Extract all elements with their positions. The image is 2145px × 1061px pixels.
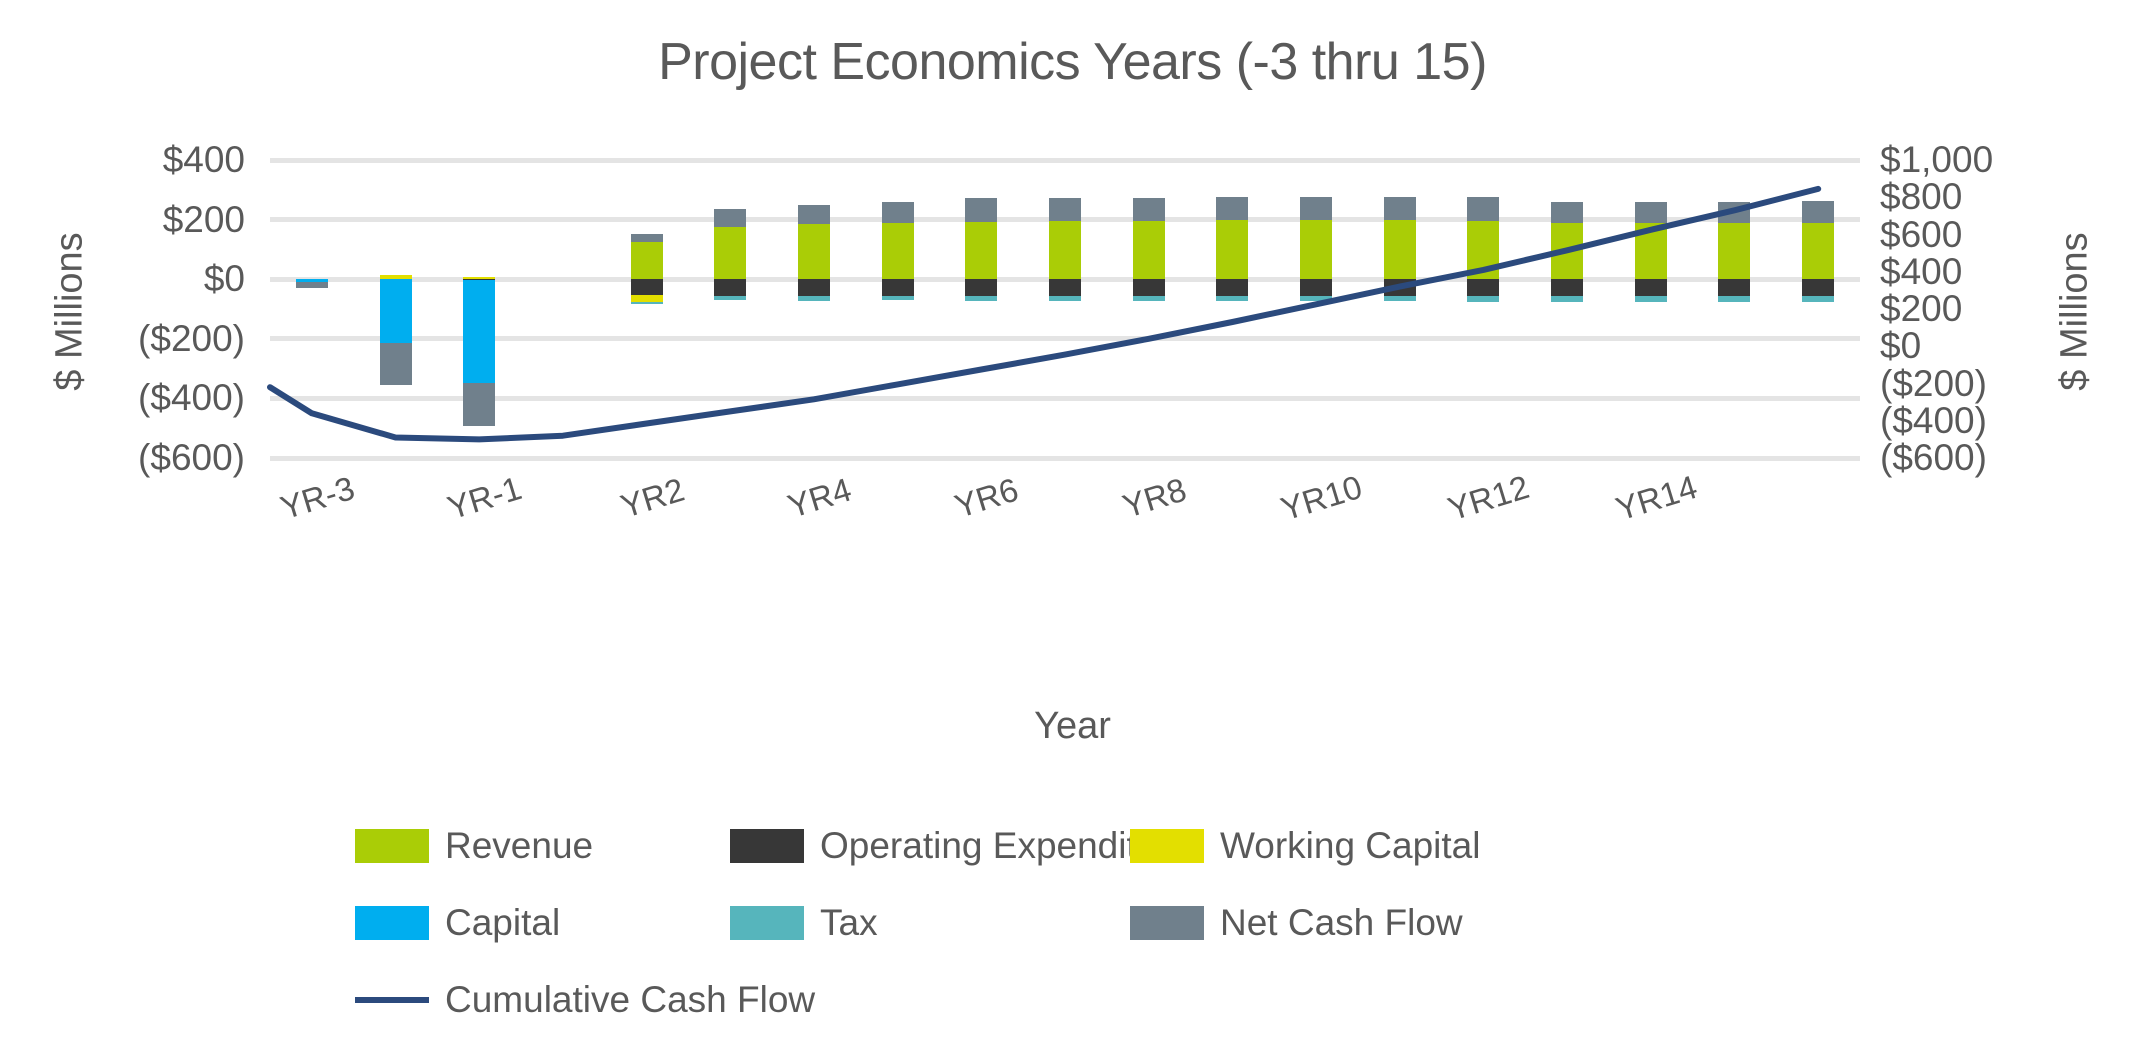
x-axis-tick-label: YR-1 (412, 460, 557, 537)
cumulative-cash-flow-line (270, 160, 1860, 458)
legend-row: CapitalTaxNet Cash Flow (355, 895, 1705, 972)
x-axis-tick-label: YR10 (1249, 460, 1394, 537)
cumulative-cash-flow-polyline (270, 189, 1818, 440)
legend-label: Capital (445, 902, 560, 944)
legend-item[interactable]: Revenue (355, 818, 593, 874)
legend-label: Cumulative Cash Flow (445, 979, 815, 1021)
chart-container: Project Economics Years (-3 thru 15) $ M… (0, 0, 2145, 1061)
y-axis-tick-label-right: $400 (1880, 251, 2140, 293)
y-axis-tick-label-right: $800 (1880, 176, 2140, 218)
y-axis-tick-label-right: $200 (1880, 288, 2140, 330)
y-axis-tick-label-left: ($600) (0, 437, 245, 479)
legend-swatch-icon (355, 829, 429, 863)
legend-label: Tax (820, 902, 878, 944)
x-axis-title: Year (0, 705, 2145, 748)
legend-item[interactable]: Net Cash Flow (1130, 895, 1463, 951)
legend-swatch-icon (355, 906, 429, 940)
legend-row: Cumulative Cash Flow (355, 972, 1705, 1049)
legend-row: RevenueOperating ExpenditureWorking Capi… (355, 818, 1705, 895)
legend-line-marker-icon (355, 997, 429, 1003)
legend-item[interactable]: Working Capital (1130, 818, 1480, 874)
legend-item[interactable]: Tax (730, 895, 878, 951)
y-axis-tick-label-right: ($200) (1880, 363, 2140, 405)
y-axis-tick-label-right: $1,000 (1880, 139, 2140, 181)
legend-label: Revenue (445, 825, 593, 867)
y-axis-tick-label-right: ($600) (1880, 437, 2140, 479)
y-axis-tick-label-right: ($400) (1880, 400, 2140, 442)
y-axis-tick-label-left: $200 (0, 199, 245, 241)
x-axis-tick-label: YR8 (1082, 460, 1227, 537)
x-axis-tick-label: YR-3 (245, 460, 390, 537)
y-axis-tick-label-left: ($400) (0, 377, 245, 419)
legend-label: Working Capital (1220, 825, 1480, 867)
y-axis-tick-label-right: $600 (1880, 214, 2140, 256)
legend-label: Net Cash Flow (1220, 902, 1463, 944)
legend-item[interactable]: Capital (355, 895, 560, 951)
chart-title: Project Economics Years (-3 thru 15) (0, 32, 2145, 92)
x-axis-tick-label: YR4 (747, 460, 892, 537)
x-axis-tick-label: YR6 (914, 460, 1059, 537)
legend-swatch-icon (1130, 829, 1204, 863)
plot-area (270, 160, 1860, 458)
chart-legend: RevenueOperating ExpenditureWorking Capi… (355, 818, 1705, 1049)
x-axis-tick-label: YR14 (1584, 460, 1729, 537)
y-axis-tick-label-left: $0 (0, 258, 245, 300)
legend-item[interactable]: Cumulative Cash Flow (355, 972, 815, 1028)
legend-swatch-icon (730, 906, 804, 940)
y-axis-tick-label-right: $0 (1880, 325, 2140, 367)
x-axis-tick-label: YR2 (580, 460, 725, 537)
legend-item[interactable]: Operating Expenditure (730, 818, 1190, 874)
legend-swatch-icon (730, 829, 804, 863)
legend-swatch-icon (1130, 906, 1204, 940)
y-axis-tick-label-left: ($200) (0, 318, 245, 360)
y-axis-tick-label-left: $400 (0, 139, 245, 181)
x-axis-tick-label: YR12 (1416, 460, 1561, 537)
